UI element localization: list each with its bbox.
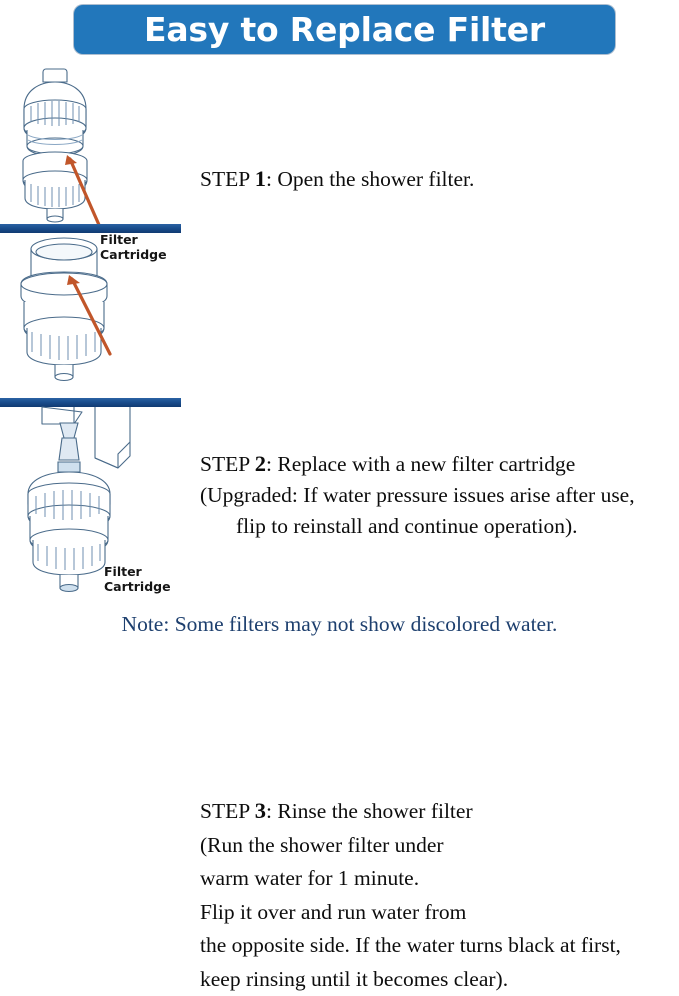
step-3-text: STEP 3: Rinse the shower filter (Run the… [200, 794, 621, 996]
header: Easy to Replace Filter [0, 0, 679, 62]
shower-filter-opened-icon [0, 62, 196, 224]
footer-note: Note: Some filters may not show discolor… [0, 612, 679, 637]
step-3-prefix: STEP [200, 799, 255, 823]
step-3-line-1: STEP 3: Rinse the shower filter [200, 794, 621, 829]
step-section-1: Filter Cartridge STEP 1: Open the shower… [0, 62, 679, 224]
step-1-number: 1 [255, 166, 266, 191]
header-banner: Easy to Replace Filter [74, 5, 615, 54]
illustration-step-3 [0, 398, 196, 604]
step-1-body: : Open the shower filter. [266, 167, 474, 191]
step-section-2: Filter Cartridge STEP 2: Replace with a … [0, 224, 679, 398]
illustration-step-1 [0, 62, 196, 224]
step-3-line-3: warm water for 1 minute. [200, 862, 621, 896]
step-3-body: : Rinse the shower filter [266, 799, 473, 823]
filter-on-shower-arm-icon [0, 398, 196, 604]
step-3-line-2: (Run the shower filter under [200, 829, 621, 863]
step-3-line-5: the opposite side. If the water turns bl… [200, 929, 621, 963]
page-title: Easy to Replace Filter [74, 5, 615, 54]
step-1-prefix: STEP [200, 167, 255, 191]
step-3-line-4: Flip it over and run water from [200, 896, 621, 930]
step-1-text: STEP 1: Open the shower filter. [200, 163, 474, 195]
filter-cartridge-inserted-icon [0, 224, 196, 398]
step-1-line-1: STEP 1: Open the shower filter. [200, 163, 474, 195]
step-3-line-6: keep rinsing until it becomes clear). [200, 963, 621, 996]
step-3-number: 3 [255, 798, 266, 823]
step-section-3: STEP 3: Rinse the shower filter (Run the… [0, 398, 679, 604]
illustration-step-2 [0, 224, 196, 398]
